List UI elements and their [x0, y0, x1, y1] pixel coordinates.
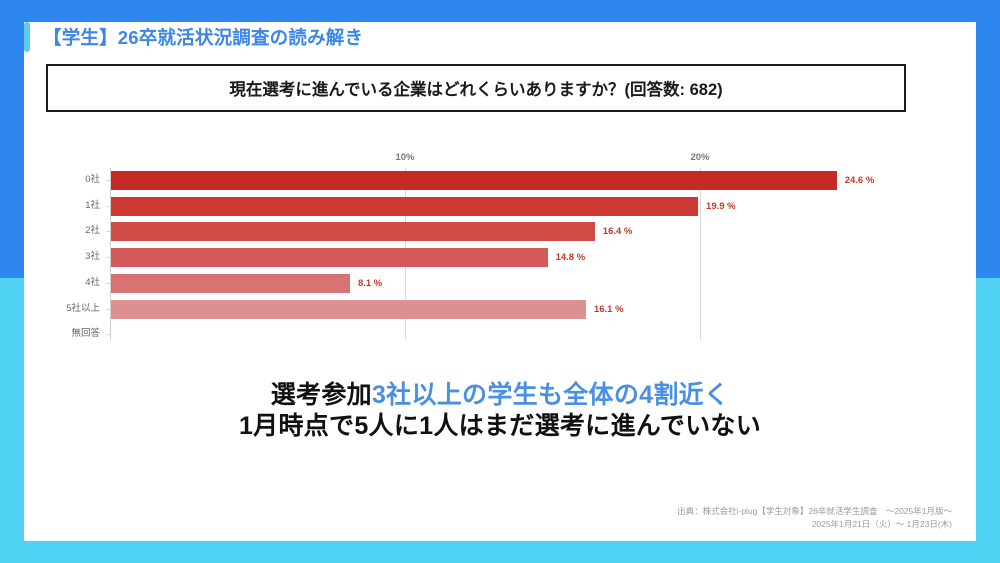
chart-bar-row: 4社8.1 %: [0, 271, 952, 295]
chart-bar: [111, 197, 698, 216]
question-box: 現在選考に進んでいる企業はどれくらいありますか？(回答数: 682): [46, 64, 906, 112]
chart-value-label: 19.9 %: [706, 197, 736, 216]
chart-bar-row: 1社19.9 %: [0, 194, 952, 218]
slide-canvas: 【学生】26卒就活状況調査の読み解き 現在選考に進んでいる企業はどれくらいありま…: [0, 0, 1000, 563]
key-message-line-1-plain: 選考参加: [271, 381, 372, 409]
chart-category-label: 4社: [10, 271, 110, 295]
chart-bar-row: 無回答: [0, 322, 952, 346]
chart-value-label: 24.6 %: [845, 171, 875, 190]
chart-axis-tick: [107, 334, 111, 335]
key-message-line-1-highlight: 3社以上の学生も全体の4割近く: [372, 381, 729, 409]
chart-bar: [111, 300, 586, 319]
chart-bar-row: 0社24.6 %: [0, 168, 952, 192]
slide-header: 【学生】26卒就活状況調査の読み解き: [24, 22, 363, 52]
chart-bar: [111, 248, 548, 267]
chart-bar: [111, 222, 595, 241]
source-footer: 出典：株式会社i-plug【学生対象】26卒就活学生調査 ～2025年1月版～ …: [677, 505, 952, 531]
chart-plot-area: 10%20%0社24.6 %1社19.9 %2社16.4 %3社14.8 %4社…: [0, 130, 952, 350]
chart-bar-row: 3社14.8 %: [0, 245, 952, 269]
key-message-line-2: 1月時点で5人に1人はまだ選考に進んでいない: [0, 411, 1000, 442]
chart-value-label: 16.4 %: [603, 222, 633, 241]
key-message-line-1: 選考参加3社以上の学生も全体の4割近く: [0, 380, 1000, 411]
chart-category-label: 3社: [10, 245, 110, 269]
chart-bar: [111, 171, 837, 190]
chart-value-label: 16.1 %: [594, 300, 624, 319]
chart-bar-row: 2社16.4 %: [0, 219, 952, 243]
chart-bar-row: 5社以上16.1 %: [0, 297, 952, 321]
vertical-accent-bar-icon: [24, 22, 30, 52]
chart-category-label: 0社: [10, 168, 110, 192]
page-title: 【学生】26卒就活状況調査の読み解き: [43, 24, 363, 50]
source-footer-line-1: 出典：株式会社i-plug【学生対象】26卒就活学生調査 ～2025年1月版～: [677, 505, 952, 518]
question-text: 現在選考に進んでいる企業はどれくらいありますか？(回答数: 682): [229, 76, 722, 100]
chart-category-label: 2社: [10, 219, 110, 243]
chart-x-tick-label: 20%: [690, 152, 709, 163]
chart-value-label: 8.1 %: [358, 274, 382, 293]
chart-x-tick-label: 10%: [395, 152, 414, 163]
chart-category-label: 無回答: [10, 322, 110, 346]
bar-chart: 10%20%0社24.6 %1社19.9 %2社16.4 %3社14.8 %4社…: [0, 130, 952, 350]
chart-category-label: 5社以上: [10, 297, 110, 321]
chart-value-label: 14.8 %: [556, 248, 586, 267]
chart-bar: [111, 274, 350, 293]
source-footer-line-2: 2025年1月21日（火）～ 1月23日(木): [677, 518, 952, 531]
chart-category-label: 1社: [10, 194, 110, 218]
key-message: 選考参加3社以上の学生も全体の4割近く 1月時点で5人に1人はまだ選考に進んでい…: [0, 380, 1000, 441]
